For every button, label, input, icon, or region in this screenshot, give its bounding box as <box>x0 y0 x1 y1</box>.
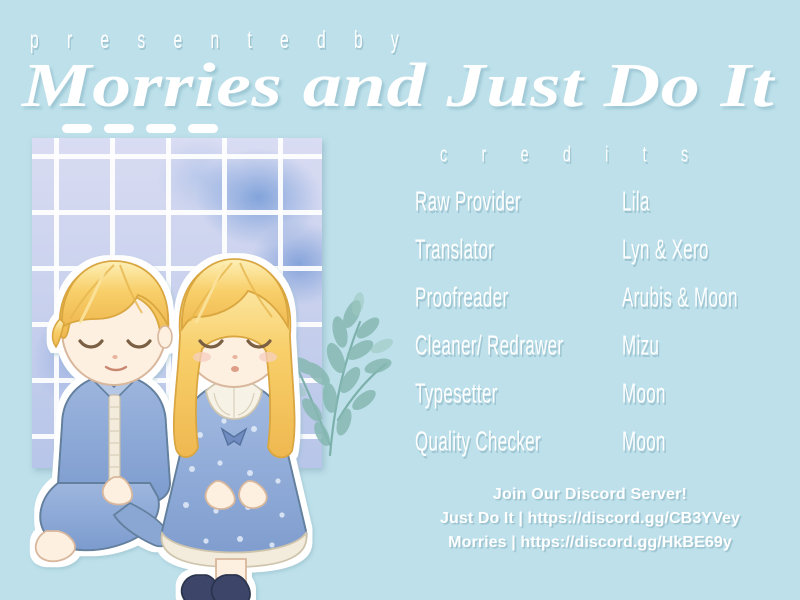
credit-label: Cleaner/ Redrawer <box>415 330 563 362</box>
credit-label: Quality Checker <box>415 426 541 458</box>
credit-label: Translator <box>415 234 494 266</box>
credits-list: Raw Provider Lila Translator Lyn & Xero … <box>415 186 785 474</box>
credit-value: Moon <box>622 426 666 458</box>
credit-value: Arubis & Moon <box>622 282 738 314</box>
credit-row: Cleaner/ Redrawer Mizu <box>415 330 785 378</box>
credit-label: Raw Provider <box>415 186 521 218</box>
credit-value: Lila <box>622 186 650 218</box>
discord-link-morries[interactable]: Morries | https://discord.gg/HkBE69y <box>380 534 800 552</box>
credits-page: p r e s e n t e d b y Morries and Just D… <box>0 0 800 600</box>
children-illustration <box>10 215 370 600</box>
credit-value: Moon <box>622 378 666 410</box>
discord-link-just-do-it[interactable]: Just Do It | https://discord.gg/CB3YVey <box>380 510 800 528</box>
credit-row: Translator Lyn & Xero <box>415 234 785 282</box>
page-title: Morries and Just Do It <box>22 52 782 122</box>
page-title-text: Morries and Just Do It <box>21 52 776 120</box>
discord-heading: Join Our Discord Server! <box>380 486 800 504</box>
credits-heading: c r e d i t s <box>440 142 703 168</box>
discord-section: Join Our Discord Server! Just Do It | ht… <box>380 486 800 558</box>
credit-value: Lyn & Xero <box>622 234 709 266</box>
presented-by-label: p r e s e n t e d b y <box>30 26 411 55</box>
credit-row: Typesetter Moon <box>415 378 785 426</box>
credit-row: Proofreader Arubis & Moon <box>415 282 785 330</box>
credit-row: Raw Provider Lila <box>415 186 785 234</box>
credit-label: Proofreader <box>415 282 509 314</box>
credit-row: Quality Checker Moon <box>415 426 785 474</box>
illustration <box>0 120 400 600</box>
dashed-frame-top <box>62 124 218 133</box>
credit-value: Mizu <box>622 330 659 362</box>
credit-label: Typesetter <box>415 378 498 410</box>
